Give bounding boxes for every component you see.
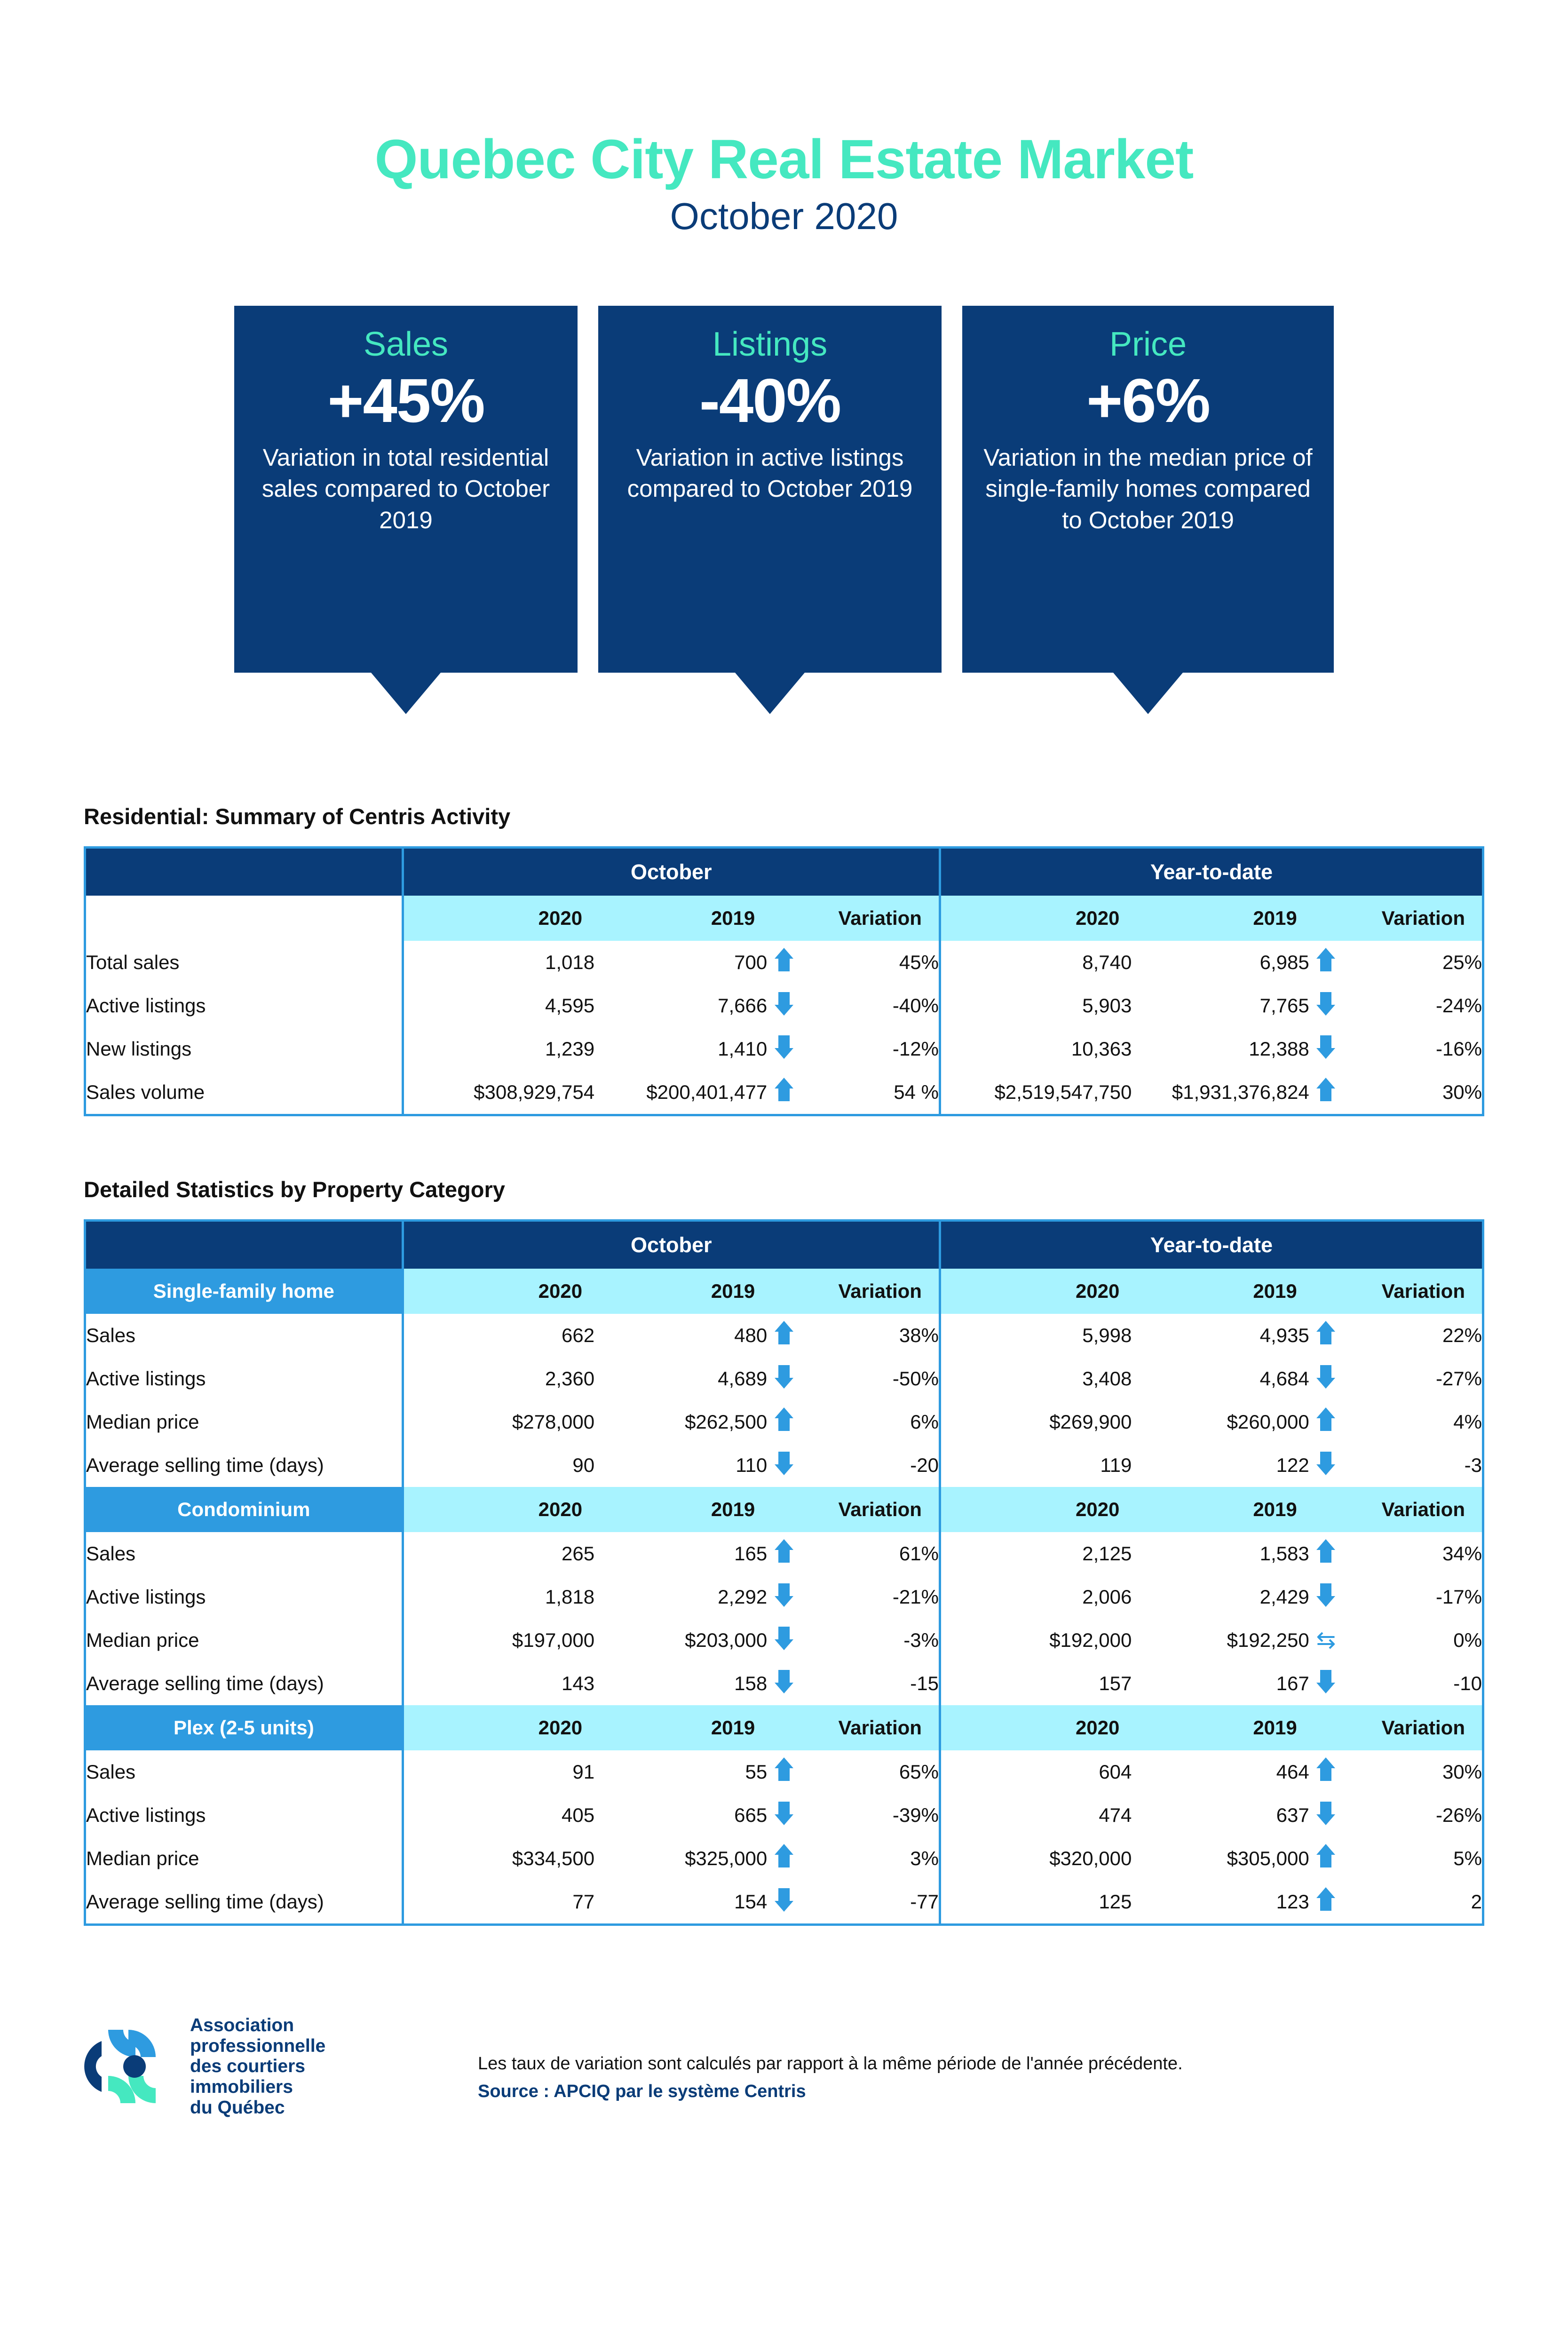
cell-ytd-variation: -10 bbox=[1343, 1662, 1482, 1705]
table-row: Average selling time (days)77154-7712512… bbox=[86, 1880, 1482, 1923]
arrow-down-icon bbox=[775, 1364, 793, 1389]
cell-oct-variation: -3% bbox=[801, 1619, 940, 1662]
col-header-oct-2020: 2020 bbox=[403, 1487, 594, 1532]
cell-ytd-2020: 474 bbox=[940, 1794, 1132, 1837]
cell-oct-2020: 405 bbox=[403, 1794, 594, 1837]
cell-oct-direction bbox=[767, 1027, 800, 1071]
col-header-oct-2019: 2019 bbox=[594, 1487, 767, 1532]
cell-ytd-2019: 2,429 bbox=[1132, 1575, 1309, 1619]
cell-oct-variation: 54 % bbox=[801, 1071, 940, 1114]
arrow-up-icon bbox=[1316, 948, 1335, 972]
col-header-ytd-2019: 2019 bbox=[1132, 1705, 1309, 1750]
table-row: Median price$197,000$203,000-3%$192,000$… bbox=[86, 1619, 1482, 1662]
arrow-up-icon bbox=[775, 1539, 793, 1564]
col-header-ytd-variation: Variation bbox=[1343, 896, 1482, 941]
cell-ytd-2019: $260,000 bbox=[1132, 1400, 1309, 1444]
cell-oct-variation: -39% bbox=[801, 1794, 940, 1837]
stat-cards: Sales +45% Variation in total residentia… bbox=[0, 306, 1568, 714]
arrow-flat-icon: ⇆ bbox=[1315, 1628, 1336, 1653]
cell-ytd-2019: 7,765 bbox=[1132, 984, 1309, 1027]
cell-ytd-variation: 4% bbox=[1343, 1400, 1482, 1444]
cell-oct-2020: 143 bbox=[403, 1662, 594, 1705]
stat-card-description: Variation in the median price of single-… bbox=[978, 442, 1318, 536]
col-header-oct-2019: 2019 bbox=[594, 1705, 767, 1750]
cell-oct-2019: $262,500 bbox=[594, 1400, 767, 1444]
cell-ytd-direction bbox=[1309, 941, 1343, 984]
arrow-up-icon bbox=[775, 948, 793, 972]
cell-oct-2020: 77 bbox=[403, 1880, 594, 1923]
table-group-header-row: OctoberYear-to-date bbox=[86, 849, 1482, 896]
col-header-ytd-2020: 2020 bbox=[940, 1705, 1132, 1750]
cell-oct-2020: $278,000 bbox=[403, 1400, 594, 1444]
page-subtitle: October 2020 bbox=[0, 198, 1568, 235]
cell-ytd-variation: 5% bbox=[1343, 1837, 1482, 1880]
col-header-oct-arrow bbox=[767, 896, 800, 941]
table-year-header-row: Single-family home20202019Variation20202… bbox=[86, 1269, 1482, 1314]
col-header-oct-2020: 2020 bbox=[403, 1705, 594, 1750]
stat-card-value: +45% bbox=[250, 370, 562, 432]
cell-ytd-2020: 119 bbox=[940, 1444, 1132, 1487]
cell-oct-variation: -77 bbox=[801, 1880, 940, 1923]
col-header-ytd-arrow bbox=[1309, 896, 1343, 941]
cell-ytd-2019: 122 bbox=[1132, 1444, 1309, 1487]
row-label: Average selling time (days) bbox=[86, 1880, 403, 1923]
col-header-oct-arrow bbox=[767, 1269, 800, 1314]
detailed-table: OctoberYear-to-dateSingle-family home202… bbox=[86, 1222, 1482, 1923]
arrow-up-icon bbox=[1316, 1887, 1335, 1912]
cell-ytd-2020: 157 bbox=[940, 1662, 1132, 1705]
summary-table-heading: Residential: Summary of Centris Activity bbox=[84, 803, 1568, 829]
cell-ytd-direction bbox=[1309, 1575, 1343, 1619]
logo-line-1: Association bbox=[190, 2015, 325, 2036]
cell-ytd-variation: 30% bbox=[1343, 1071, 1482, 1114]
col-header-oct-arrow bbox=[767, 1487, 800, 1532]
infographic-page: Quebec City Real Estate Market October 2… bbox=[0, 0, 1568, 2352]
arrow-down-icon bbox=[775, 1669, 793, 1693]
cell-oct-2019: 2,292 bbox=[594, 1575, 767, 1619]
cell-ytd-direction bbox=[1309, 1662, 1343, 1705]
cell-oct-2019: 7,666 bbox=[594, 984, 767, 1027]
cell-oct-2019: 700 bbox=[594, 941, 767, 984]
cell-oct-variation: -21% bbox=[801, 1575, 940, 1619]
row-label: Average selling time (days) bbox=[86, 1662, 403, 1705]
stat-card-value: +6% bbox=[978, 370, 1318, 432]
row-label: Total sales bbox=[86, 941, 403, 984]
logo-line-4: immobiliers bbox=[190, 2077, 325, 2098]
cell-ytd-2019: 637 bbox=[1132, 1794, 1309, 1837]
cell-oct-variation: -15 bbox=[801, 1662, 940, 1705]
row-label: Sales bbox=[86, 1750, 403, 1794]
cell-ytd-variation: 34% bbox=[1343, 1532, 1482, 1575]
table-row: Sales66248038%5,9984,93522% bbox=[86, 1314, 1482, 1357]
cell-ytd-direction bbox=[1309, 984, 1343, 1027]
detailed-table-heading: Detailed Statistics by Property Category bbox=[84, 1176, 1568, 1202]
table-row: Median price$278,000$262,5006%$269,900$2… bbox=[86, 1400, 1482, 1444]
cell-oct-2019: 165 bbox=[594, 1532, 767, 1575]
cell-ytd-direction bbox=[1309, 1357, 1343, 1400]
table-row: Average selling time (days)143158-151571… bbox=[86, 1662, 1482, 1705]
cell-ytd-direction bbox=[1309, 1444, 1343, 1487]
stat-card-listings: Listings -40% Variation in active listin… bbox=[598, 306, 942, 714]
arrow-up-icon bbox=[1316, 1539, 1335, 1564]
card-pointer-triangle bbox=[1113, 673, 1183, 714]
row-label: Active listings bbox=[86, 1357, 403, 1400]
cell-ytd-2020: 3,408 bbox=[940, 1357, 1132, 1400]
cell-ytd-2020: 2,006 bbox=[940, 1575, 1132, 1619]
category-label-cell: Condominium bbox=[86, 1487, 403, 1532]
stat-card-label: Listings bbox=[614, 327, 926, 361]
arrow-up-icon bbox=[775, 1407, 793, 1432]
row-label: Median price bbox=[86, 1837, 403, 1880]
table-row: Sales26516561%2,1251,58334% bbox=[86, 1532, 1482, 1575]
apciq-logo-mark bbox=[84, 2019, 178, 2114]
cell-ytd-direction: ⇆ bbox=[1309, 1619, 1343, 1662]
cell-oct-variation: 38% bbox=[801, 1314, 940, 1357]
cell-ytd-2020: 125 bbox=[940, 1880, 1132, 1923]
logo-line-5: du Québec bbox=[190, 2098, 325, 2118]
footer-note: Les taux de variation sont calculés par … bbox=[478, 2050, 1183, 2078]
cell-ytd-variation: 25% bbox=[1343, 941, 1482, 984]
col-header-ytd-arrow bbox=[1309, 1487, 1343, 1532]
col-header-oct-arrow bbox=[767, 1705, 800, 1750]
table-year-header-row: 20202019Variation20202019Variation bbox=[86, 896, 1482, 941]
table-row: Active listings4,5957,666-40%5,9037,765-… bbox=[86, 984, 1482, 1027]
cell-oct-direction bbox=[767, 1794, 800, 1837]
row-label: Sales bbox=[86, 1532, 403, 1575]
footer-source: Source : APCIQ par le système Centris bbox=[478, 2078, 1183, 2106]
table-year-header-row: Condominium20202019Variation20202019Vari… bbox=[86, 1487, 1482, 1532]
col-header-ytd-2019: 2019 bbox=[1132, 1269, 1309, 1314]
cell-ytd-2019: $192,250 bbox=[1132, 1619, 1309, 1662]
col-header-ytd-arrow bbox=[1309, 1705, 1343, 1750]
page-footer: Association professionnelle des courtier… bbox=[84, 2015, 1568, 2118]
col-header-ytd-variation: Variation bbox=[1343, 1487, 1482, 1532]
stat-card-value: -40% bbox=[614, 370, 926, 432]
col-header-ytd-2020: 2020 bbox=[940, 896, 1132, 941]
table-row: Active listings1,8182,292-21%2,0062,429-… bbox=[86, 1575, 1482, 1619]
cell-ytd-variation: -27% bbox=[1343, 1357, 1482, 1400]
cell-ytd-direction bbox=[1309, 1880, 1343, 1923]
row-label: Average selling time (days) bbox=[86, 1444, 403, 1487]
group-header-october: October bbox=[403, 1222, 940, 1269]
cell-oct-direction bbox=[767, 1575, 800, 1619]
cell-ytd-2020: 5,998 bbox=[940, 1314, 1132, 1357]
cell-oct-direction bbox=[767, 1619, 800, 1662]
col-header-oct-2019: 2019 bbox=[594, 896, 767, 941]
cell-oct-2019: 110 bbox=[594, 1444, 767, 1487]
cell-ytd-direction bbox=[1309, 1837, 1343, 1880]
card-pointer-triangle bbox=[371, 673, 441, 714]
cell-oct-2019: 665 bbox=[594, 1794, 767, 1837]
cell-ytd-2019: 4,935 bbox=[1132, 1314, 1309, 1357]
row-label: Active listings bbox=[86, 984, 403, 1027]
cell-ytd-2020: $320,000 bbox=[940, 1837, 1132, 1880]
cell-oct-2019: $200,401,477 bbox=[594, 1071, 767, 1114]
arrow-up-icon bbox=[1316, 1757, 1335, 1782]
cell-ytd-2019: 464 bbox=[1132, 1750, 1309, 1794]
arrow-down-icon bbox=[775, 1034, 793, 1059]
page-header: Quebec City Real Estate Market October 2… bbox=[0, 0, 1568, 235]
cell-ytd-2019: 1,583 bbox=[1132, 1532, 1309, 1575]
cell-ytd-2020: 5,903 bbox=[940, 984, 1132, 1027]
cell-oct-direction bbox=[767, 1662, 800, 1705]
cell-oct-direction bbox=[767, 1750, 800, 1794]
cell-oct-2019: 158 bbox=[594, 1662, 767, 1705]
apciq-logo: Association professionnelle des courtier… bbox=[84, 2015, 432, 2118]
summary-table-container: OctoberYear-to-date20202019Variation2020… bbox=[84, 846, 1484, 1116]
table-group-header-row: OctoberYear-to-date bbox=[86, 1222, 1482, 1269]
arrow-up-icon bbox=[1316, 1407, 1335, 1432]
stat-card-sales: Sales +45% Variation in total residentia… bbox=[234, 306, 578, 714]
cell-ytd-2020: 8,740 bbox=[940, 941, 1132, 984]
cell-oct-variation: 6% bbox=[801, 1400, 940, 1444]
cell-oct-2019: $325,000 bbox=[594, 1837, 767, 1880]
col-header-oct-variation: Variation bbox=[801, 1487, 940, 1532]
table-year-header-row: Plex (2-5 units)20202019Variation2020201… bbox=[86, 1705, 1482, 1750]
page-title: Quebec City Real Estate Market bbox=[0, 132, 1568, 187]
col-header-ytd-2020: 2020 bbox=[940, 1269, 1132, 1314]
cell-ytd-variation: -17% bbox=[1343, 1575, 1482, 1619]
cell-oct-variation: 3% bbox=[801, 1837, 940, 1880]
cell-ytd-2019: 123 bbox=[1132, 1880, 1309, 1923]
group-header-blank bbox=[86, 849, 403, 896]
row-label: Median price bbox=[86, 1619, 403, 1662]
cell-ytd-direction bbox=[1309, 1400, 1343, 1444]
cell-oct-direction bbox=[767, 1837, 800, 1880]
cell-ytd-direction bbox=[1309, 1750, 1343, 1794]
col-header-ytd-2019: 2019 bbox=[1132, 896, 1309, 941]
row-label: Active listings bbox=[86, 1575, 403, 1619]
cell-ytd-2019: 6,985 bbox=[1132, 941, 1309, 984]
cell-oct-2020: $197,000 bbox=[403, 1619, 594, 1662]
row-label: New listings bbox=[86, 1027, 403, 1071]
table-row: Total sales1,01870045%8,7406,98525% bbox=[86, 941, 1482, 984]
stat-card-price: Price +6% Variation in the median price … bbox=[962, 306, 1334, 714]
category-label-cell: Plex (2-5 units) bbox=[86, 1705, 403, 1750]
cell-oct-2020: 265 bbox=[403, 1532, 594, 1575]
cell-ytd-variation: 22% bbox=[1343, 1314, 1482, 1357]
table-row: Median price$334,500$325,0003%$320,000$3… bbox=[86, 1837, 1482, 1880]
row-label: Active listings bbox=[86, 1794, 403, 1837]
col-header-oct-2019: 2019 bbox=[594, 1269, 767, 1314]
cell-oct-2019: 1,410 bbox=[594, 1027, 767, 1071]
arrow-down-icon bbox=[775, 1887, 793, 1912]
cell-oct-direction bbox=[767, 941, 800, 984]
cell-oct-variation: 61% bbox=[801, 1532, 940, 1575]
col-header-oct-2020: 2020 bbox=[403, 896, 594, 941]
cell-ytd-2020: $2,519,547,750 bbox=[940, 1071, 1132, 1114]
stat-card-description: Variation in active listings compared to… bbox=[614, 442, 926, 505]
col-header-ytd-variation: Variation bbox=[1343, 1269, 1482, 1314]
cell-ytd-2020: $269,900 bbox=[940, 1400, 1132, 1444]
arrow-up-icon bbox=[775, 1844, 793, 1868]
arrow-up-icon bbox=[775, 1078, 793, 1102]
cell-ytd-2020: 10,363 bbox=[940, 1027, 1132, 1071]
summary-table: OctoberYear-to-date20202019Variation2020… bbox=[86, 849, 1482, 1114]
group-header-ytd: Year-to-date bbox=[940, 1222, 1482, 1269]
row-label: Median price bbox=[86, 1400, 403, 1444]
cell-oct-direction bbox=[767, 1532, 800, 1575]
cell-oct-2020: 4,595 bbox=[403, 984, 594, 1027]
logo-line-2: professionnelle bbox=[190, 2036, 325, 2057]
arrow-down-icon bbox=[1316, 991, 1335, 1016]
arrow-up-icon bbox=[1316, 1844, 1335, 1868]
cell-oct-2020: 1,239 bbox=[403, 1027, 594, 1071]
row-label: Sales volume bbox=[86, 1071, 403, 1114]
cell-oct-2020: $308,929,754 bbox=[403, 1071, 594, 1114]
arrow-down-icon bbox=[775, 1582, 793, 1607]
cell-ytd-variation: -16% bbox=[1343, 1027, 1482, 1071]
cell-oct-direction bbox=[767, 1880, 800, 1923]
arrow-down-icon bbox=[1316, 1034, 1335, 1059]
col-header-ytd-2020: 2020 bbox=[940, 1487, 1132, 1532]
table-row: New listings1,2391,410-12%10,36312,388-1… bbox=[86, 1027, 1482, 1071]
cell-ytd-2020: 604 bbox=[940, 1750, 1132, 1794]
cell-ytd-variation: 2 bbox=[1343, 1880, 1482, 1923]
stat-card-label: Price bbox=[978, 327, 1318, 361]
category-label-cell: Single-family home bbox=[86, 1269, 403, 1314]
cell-oct-2019: 154 bbox=[594, 1880, 767, 1923]
cell-ytd-2019: 167 bbox=[1132, 1662, 1309, 1705]
cell-ytd-variation: -24% bbox=[1343, 984, 1482, 1027]
cell-ytd-direction bbox=[1309, 1071, 1343, 1114]
arrow-up-icon bbox=[1316, 1078, 1335, 1102]
arrow-up-icon bbox=[775, 1757, 793, 1782]
arrow-down-icon bbox=[775, 1801, 793, 1825]
arrow-down-icon bbox=[775, 991, 793, 1016]
cell-oct-2020: 1,818 bbox=[403, 1575, 594, 1619]
cell-oct-2020: 1,018 bbox=[403, 941, 594, 984]
cell-ytd-variation: -3 bbox=[1343, 1444, 1482, 1487]
arrow-up-icon bbox=[1316, 1321, 1335, 1345]
cell-ytd-direction bbox=[1309, 1027, 1343, 1071]
col-header-oct-variation: Variation bbox=[801, 1705, 940, 1750]
cell-ytd-variation: -26% bbox=[1343, 1794, 1482, 1837]
cell-ytd-2020: 2,125 bbox=[940, 1532, 1132, 1575]
logo-line-3: des courtiers bbox=[190, 2056, 325, 2077]
cell-oct-2020: 90 bbox=[403, 1444, 594, 1487]
cell-oct-2019: 480 bbox=[594, 1314, 767, 1357]
arrow-down-icon bbox=[1316, 1582, 1335, 1607]
cell-ytd-2020: $192,000 bbox=[940, 1619, 1132, 1662]
cell-oct-variation: 45% bbox=[801, 941, 940, 984]
cell-oct-direction bbox=[767, 1357, 800, 1400]
arrow-down-icon bbox=[1316, 1669, 1335, 1693]
cell-oct-direction bbox=[767, 1444, 800, 1487]
year-header-blank bbox=[86, 896, 403, 941]
stat-card-label: Sales bbox=[250, 327, 562, 361]
col-header-oct-variation: Variation bbox=[801, 1269, 940, 1314]
cell-ytd-2019: $305,000 bbox=[1132, 1837, 1309, 1880]
col-header-oct-variation: Variation bbox=[801, 896, 940, 941]
row-label: Sales bbox=[86, 1314, 403, 1357]
table-row: Average selling time (days)90110-2011912… bbox=[86, 1444, 1482, 1487]
cell-oct-2020: 2,360 bbox=[403, 1357, 594, 1400]
cell-oct-2020: 662 bbox=[403, 1314, 594, 1357]
footer-notes: Les taux de variation sont calculés par … bbox=[478, 2015, 1183, 2106]
col-header-ytd-arrow bbox=[1309, 1269, 1343, 1314]
cell-oct-variation: 65% bbox=[801, 1750, 940, 1794]
arrow-down-icon bbox=[775, 1626, 793, 1650]
cell-ytd-2019: 4,684 bbox=[1132, 1357, 1309, 1400]
col-header-ytd-variation: Variation bbox=[1343, 1705, 1482, 1750]
cell-oct-2020: 91 bbox=[403, 1750, 594, 1794]
arrow-down-icon bbox=[1316, 1801, 1335, 1825]
arrow-down-icon bbox=[1316, 1451, 1335, 1475]
cell-oct-variation: -20 bbox=[801, 1444, 940, 1487]
arrow-up-icon bbox=[775, 1321, 793, 1345]
cell-oct-variation: -40% bbox=[801, 984, 940, 1027]
cell-ytd-variation: 0% bbox=[1343, 1619, 1482, 1662]
cell-oct-direction bbox=[767, 984, 800, 1027]
table-row: Sales915565%60446430% bbox=[86, 1750, 1482, 1794]
table-row: Active listings2,3604,689-50%3,4084,684-… bbox=[86, 1357, 1482, 1400]
group-header-october: October bbox=[403, 849, 940, 896]
group-header-blank bbox=[86, 1222, 403, 1269]
cell-ytd-direction bbox=[1309, 1532, 1343, 1575]
cell-oct-direction bbox=[767, 1314, 800, 1357]
card-pointer-triangle bbox=[735, 673, 805, 714]
stat-card-description: Variation in total residential sales com… bbox=[250, 442, 562, 536]
group-header-ytd: Year-to-date bbox=[940, 849, 1482, 896]
table-row: Active listings405665-39%474637-26% bbox=[86, 1794, 1482, 1837]
cell-oct-direction bbox=[767, 1400, 800, 1444]
col-header-oct-2020: 2020 bbox=[403, 1269, 594, 1314]
cell-oct-variation: -50% bbox=[801, 1357, 940, 1400]
cell-ytd-variation: 30% bbox=[1343, 1750, 1482, 1794]
cell-oct-2019: 55 bbox=[594, 1750, 767, 1794]
cell-oct-2019: 4,689 bbox=[594, 1357, 767, 1400]
detailed-table-container: OctoberYear-to-dateSingle-family home202… bbox=[84, 1219, 1484, 1926]
arrow-down-icon bbox=[775, 1451, 793, 1475]
cell-oct-direction bbox=[767, 1071, 800, 1114]
cell-ytd-2019: 12,388 bbox=[1132, 1027, 1309, 1071]
table-row: Sales volume$308,929,754$200,401,47754 %… bbox=[86, 1071, 1482, 1114]
cell-ytd-direction bbox=[1309, 1314, 1343, 1357]
apciq-logo-text: Association professionnelle des courtier… bbox=[190, 2015, 325, 2118]
col-header-ytd-2019: 2019 bbox=[1132, 1487, 1309, 1532]
cell-ytd-2019: $1,931,376,824 bbox=[1132, 1071, 1309, 1114]
cell-oct-variation: -12% bbox=[801, 1027, 940, 1071]
cell-oct-2020: $334,500 bbox=[403, 1837, 594, 1880]
cell-ytd-direction bbox=[1309, 1794, 1343, 1837]
cell-oct-2019: $203,000 bbox=[594, 1619, 767, 1662]
arrow-down-icon bbox=[1316, 1364, 1335, 1389]
